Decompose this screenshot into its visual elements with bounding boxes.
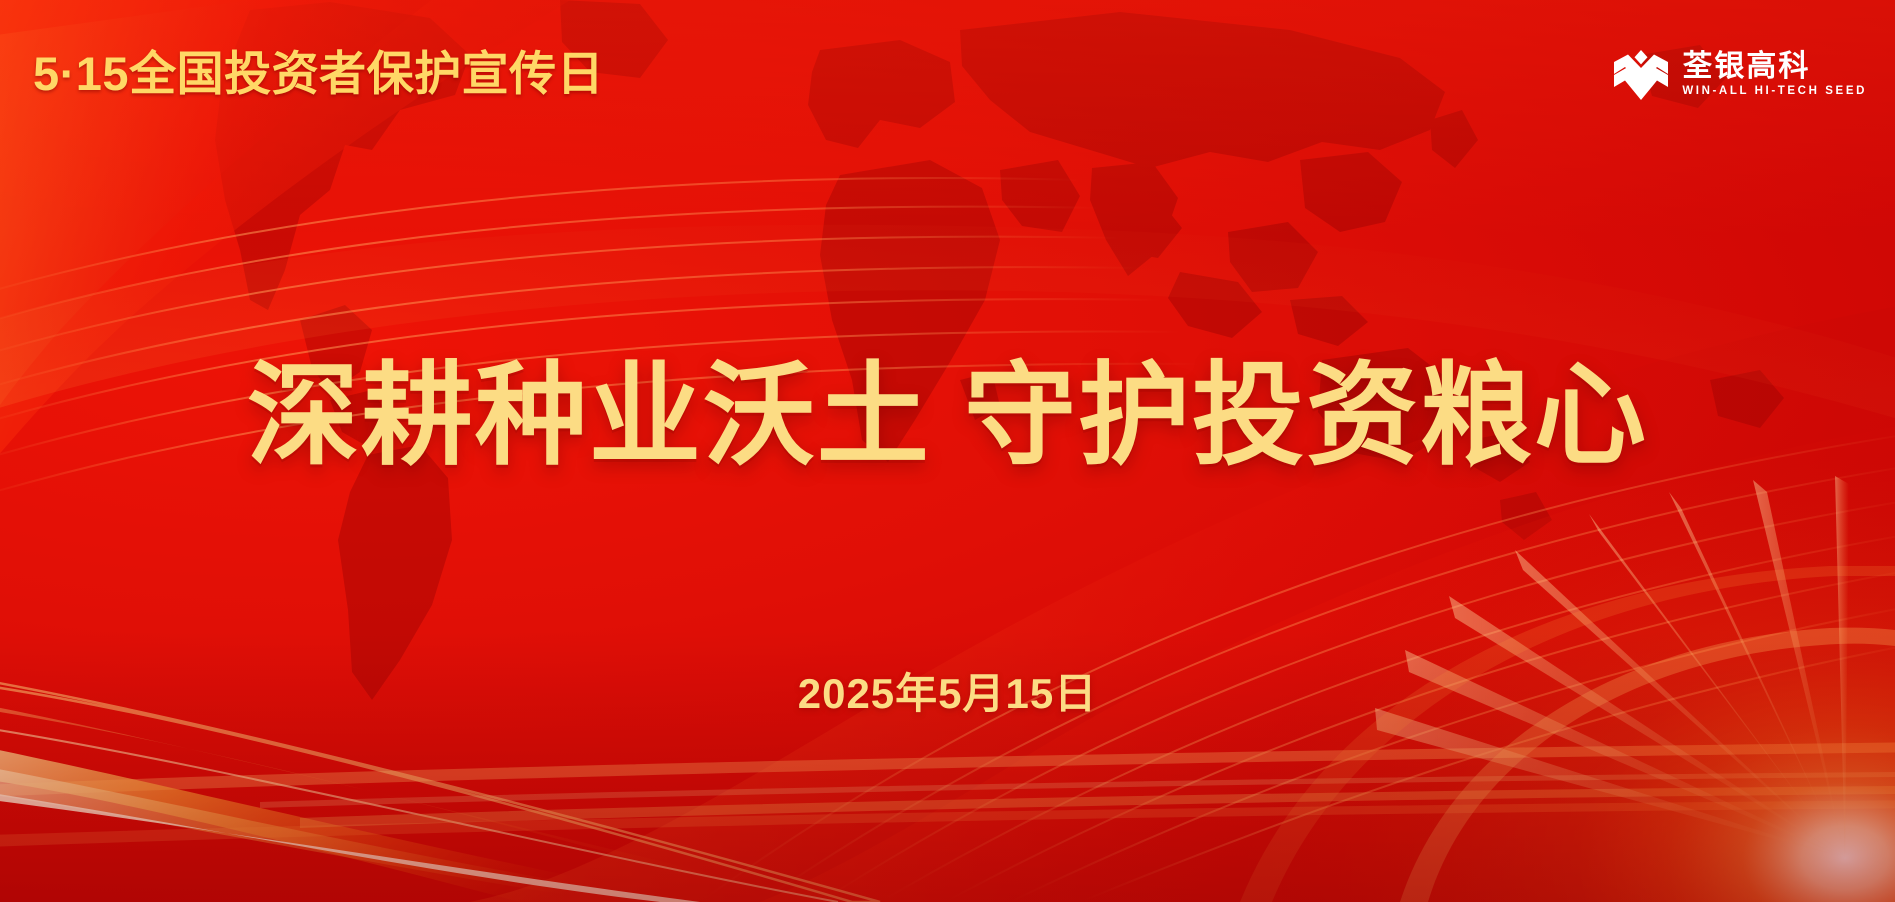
chevron-seed-logo-icon <box>1614 50 1668 100</box>
brand-text: 荃银高科 WIN-ALL HI-TECH SEED <box>1682 51 1867 99</box>
brand-logo: 荃银高科 WIN-ALL HI-TECH SEED <box>1614 50 1867 100</box>
main-title: 深耕种业沃土 守护投资粮心 <box>0 352 1895 481</box>
event-title: 5·15全国投资者保护宣传日 <box>33 50 604 97</box>
event-date: 2025年5月15日 <box>0 660 1895 721</box>
brand-name-cn: 荃银高科 <box>1682 51 1867 83</box>
brand-name-en: WIN-ALL HI-TECH SEED <box>1682 85 1867 99</box>
poster-canvas: 5·15全国投资者保护宣传日 荃银高科 WIN-ALL HI-TECH SEED… <box>0 0 1895 902</box>
poster-content: 5·15全国投资者保护宣传日 荃银高科 WIN-ALL HI-TECH SEED… <box>0 0 1895 902</box>
